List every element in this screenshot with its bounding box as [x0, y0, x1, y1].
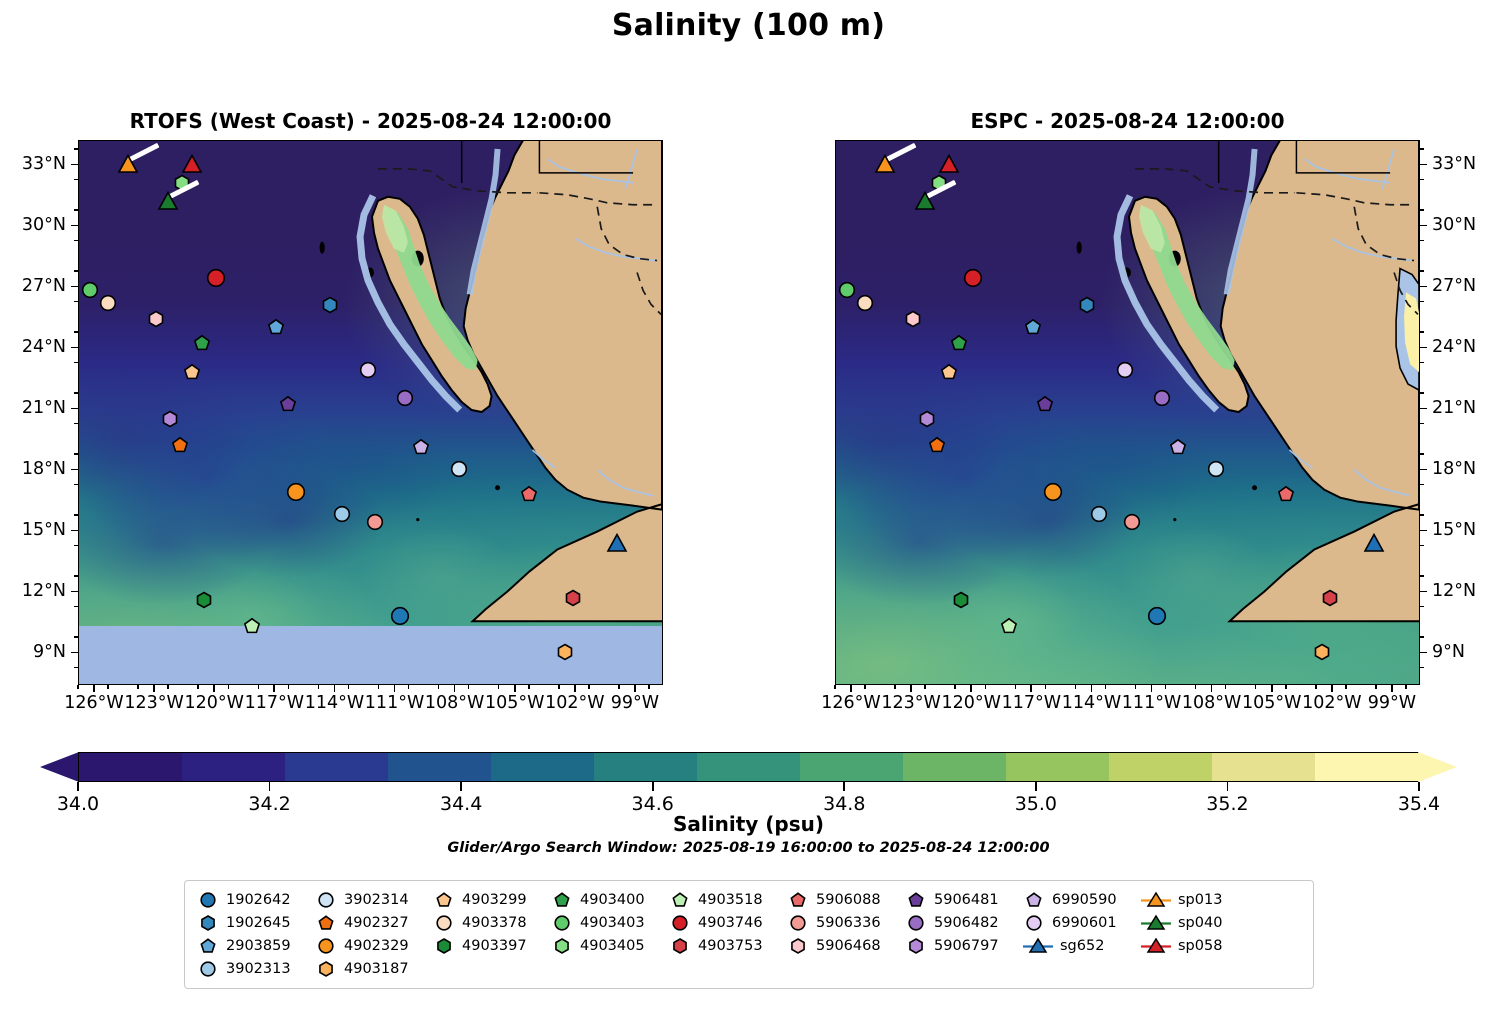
xtick-label: 102°W: [545, 693, 604, 713]
ytick-label: 9°N: [1432, 642, 1465, 662]
platform-marker-4903746[interactable]: [206, 268, 227, 289]
xtick-major: [273, 685, 275, 692]
float-marker-icon: [551, 913, 573, 932]
xtick-minor: [528, 685, 530, 689]
legend-label: 6990590: [1052, 892, 1117, 908]
xtick-major: [1030, 685, 1032, 692]
ytick-major: [1420, 530, 1427, 532]
xtick-minor: [1195, 685, 1197, 689]
xtick-minor: [618, 685, 620, 689]
platform-marker-5906088[interactable]: [1276, 484, 1295, 503]
ytick-minor: [74, 575, 78, 577]
xtick-minor: [954, 685, 956, 689]
platform-marker-4903299[interactable]: [940, 362, 959, 381]
legend-item-4903400[interactable]: 4903400: [551, 890, 669, 909]
platform-marker-6990601[interactable]: [359, 360, 378, 379]
ytick-minor: [1420, 667, 1424, 669]
platform-marker-4903378[interactable]: [99, 293, 118, 312]
xtick-label: 111°W: [365, 693, 424, 713]
xtick-major: [1271, 685, 1273, 692]
legend-column: sp013 sp040 sp058: [1141, 890, 1245, 955]
colorbar-tick: [1418, 782, 1420, 791]
xtick-minor: [77, 685, 79, 689]
platform-marker-5906481[interactable]: [279, 395, 298, 414]
xtick-major: [93, 685, 95, 692]
ytick-minor: [74, 423, 78, 425]
ytick-label: 9°N: [33, 642, 66, 662]
xtick-minor: [1345, 685, 1347, 689]
ytick-minor: [1420, 392, 1424, 394]
xtick-minor: [348, 685, 350, 689]
legend-column: 490329949033784903397: [433, 890, 551, 955]
ytick-minor: [74, 209, 78, 211]
legend-item-5906468[interactable]: 5906468: [787, 936, 905, 955]
xtick-major: [1331, 685, 1333, 692]
island-guadalupe: [1077, 242, 1082, 254]
xtick-minor: [1165, 685, 1167, 689]
xtick-major: [514, 685, 516, 692]
float-marker-icon: [197, 890, 219, 909]
xtick-minor: [1015, 685, 1017, 689]
map-panel-espc[interactable]: ESPC - 2025-08-24 12:00:00: [835, 140, 1420, 685]
platform-marker-4903299[interactable]: [183, 362, 202, 381]
legend-label: 4903403: [580, 915, 645, 931]
platform-marker-4903753[interactable]: [1320, 588, 1339, 607]
platform-marker-4903187[interactable]: [555, 643, 574, 662]
ytick-major: [71, 408, 78, 410]
glider-marker-icon: [1141, 913, 1171, 932]
xtick-major: [1391, 685, 1393, 692]
platform-marker-4902327[interactable]: [171, 436, 190, 455]
xtick-minor: [924, 685, 926, 689]
ytick-minor: [74, 301, 78, 303]
ytick-minor: [1420, 179, 1424, 181]
platform-marker-6990590[interactable]: [411, 438, 430, 457]
xtick-minor: [558, 685, 560, 689]
platform-marker-1902642[interactable]: [389, 605, 410, 626]
platform-marker-4903403[interactable]: [838, 281, 857, 300]
ytick-label: 24°N: [22, 337, 66, 357]
xtick-minor: [1375, 685, 1377, 689]
ytick-label: 27°N: [1432, 276, 1476, 296]
ytick-label: 30°N: [1432, 215, 1476, 235]
legend-label: 4903397: [462, 938, 527, 954]
ytick-minor: [74, 606, 78, 608]
legend-item-4903378[interactable]: 4903378: [433, 913, 551, 932]
platform-marker-sp013[interactable]: [874, 153, 896, 175]
glider-marker-icon: [1023, 936, 1053, 955]
ytick-major: [71, 347, 78, 349]
colorbar-extend-high: [1418, 752, 1457, 782]
legend-item-5906797[interactable]: 5906797: [905, 936, 1023, 955]
legend-label: 4902329: [344, 938, 409, 954]
xtick-major: [454, 685, 456, 692]
platform-marker-4903397[interactable]: [952, 590, 971, 609]
ytick-minor: [74, 148, 78, 150]
float-marker-icon: [433, 936, 455, 955]
xtick-label: 126°W: [821, 693, 880, 713]
platform-legend[interactable]: 1902642190264529038593902313390231449023…: [184, 880, 1314, 989]
legend-label: 5906481: [934, 892, 999, 908]
ytick-minor: [74, 667, 78, 669]
xtick-minor: [318, 685, 320, 689]
platform-marker-5906797[interactable]: [161, 409, 180, 428]
legend-item-5906088[interactable]: 5906088: [787, 890, 905, 909]
xtick-minor: [1315, 685, 1317, 689]
platform-marker-5906482[interactable]: [1152, 389, 1171, 408]
legend-item-sp058[interactable]: sp058: [1141, 936, 1245, 955]
legend-item-4903753[interactable]: 4903753: [669, 936, 787, 955]
platform-marker-4903753[interactable]: [563, 588, 582, 607]
platform-marker-4903187[interactable]: [1312, 643, 1331, 662]
xtick-minor: [1225, 685, 1227, 689]
legend-label: 1902645: [226, 915, 291, 931]
xtick-minor: [1255, 685, 1257, 689]
legend-label: sg652: [1060, 938, 1104, 954]
legend-item-sp040[interactable]: sp040: [1141, 913, 1245, 932]
ytick-label: 33°N: [22, 154, 66, 174]
xtick-label: 123°W: [881, 693, 940, 713]
float-marker-icon: [315, 890, 337, 909]
xtick-minor: [1045, 685, 1047, 689]
ytick-label: 33°N: [1432, 154, 1476, 174]
legend-label: 4903753: [698, 938, 763, 954]
ytick-major: [71, 591, 78, 593]
platform-marker-4902327[interactable]: [928, 436, 947, 455]
xtick-major: [970, 685, 972, 692]
ytick-label: 18°N: [1432, 459, 1476, 479]
platform-marker-4903400[interactable]: [193, 334, 212, 353]
xtick-major: [850, 685, 852, 692]
legend-label: 4903405: [580, 938, 645, 954]
legend-item-4903746[interactable]: 4903746: [669, 913, 787, 932]
xtick-label: 117°W: [1002, 693, 1061, 713]
ytick-label: 15°N: [1432, 520, 1476, 540]
legend-item-5906481[interactable]: 5906481: [905, 890, 1023, 909]
legend-label: 3902313: [226, 961, 291, 977]
xtick-major: [1211, 685, 1213, 692]
legend-item-6990601[interactable]: 6990601: [1023, 913, 1141, 932]
legend-item-5906482[interactable]: 5906482: [905, 913, 1023, 932]
legend-item-4903187[interactable]: 4903187: [315, 959, 433, 978]
ytick-label: 15°N: [22, 520, 66, 540]
ytick-minor: [1420, 606, 1424, 608]
island-socorro: [416, 518, 419, 521]
float-marker-icon: [669, 890, 691, 909]
colorbar-tick: [77, 782, 79, 791]
legend-label: 4903518: [698, 892, 763, 908]
legend-label: 5906336: [816, 915, 881, 931]
platform-marker-6990590[interactable]: [1168, 438, 1187, 457]
xtick-minor: [864, 685, 866, 689]
float-marker-icon: [787, 936, 809, 955]
float-marker-icon: [551, 890, 573, 909]
ytick-major: [1420, 408, 1427, 410]
platform-marker-4903403[interactable]: [81, 281, 100, 300]
platform-marker-3902314[interactable]: [449, 460, 468, 479]
platform-marker-4903378[interactable]: [856, 293, 875, 312]
legend-column: 490351849037464903753: [669, 890, 787, 955]
ytick-major: [71, 225, 78, 227]
legend-item-4902329[interactable]: 4902329: [315, 936, 433, 955]
xtick-major: [634, 685, 636, 692]
xtick-minor: [1285, 685, 1287, 689]
colorbar-extend-low: [40, 752, 79, 782]
float-marker-icon: [315, 959, 337, 978]
ytick-minor: [74, 179, 78, 181]
float-marker-icon: [1023, 890, 1045, 909]
ytick-label: 30°N: [22, 215, 66, 235]
ytick-minor: [1420, 301, 1424, 303]
ytick-minor: [1420, 240, 1424, 242]
platform-marker-2903859[interactable]: [267, 318, 286, 337]
glider-marker-icon: [1141, 890, 1171, 909]
platform-marker-4903400[interactable]: [950, 334, 969, 353]
map-panel-rtofs[interactable]: RTOFS (West Coast) - 2025-08-24 12:00:00: [78, 140, 663, 685]
colorbar-tick: [269, 782, 271, 791]
platform-marker-3902313[interactable]: [333, 505, 352, 524]
legend-item-1902645[interactable]: 1902645: [197, 913, 315, 932]
legend-item-6990590[interactable]: 6990590: [1023, 890, 1141, 909]
ytick-minor: [1420, 209, 1424, 211]
xtick-minor: [498, 685, 500, 689]
ytick-minor: [74, 270, 78, 272]
platform-marker-sp058[interactable]: [938, 153, 960, 175]
ytick-minor: [74, 484, 78, 486]
ytick-major: [1420, 469, 1427, 471]
platform-marker-5906797[interactable]: [918, 409, 937, 428]
float-marker-icon: [905, 936, 927, 955]
legend-item-4903299[interactable]: 4903299: [433, 890, 551, 909]
search-window-caption: Glider/Argo Search Window: 2025-08-19 16…: [0, 840, 1497, 856]
xtick-minor: [894, 685, 896, 689]
xtick-major: [153, 685, 155, 692]
colorbar-tick: [843, 782, 845, 791]
xtick-minor: [107, 685, 109, 689]
island-marias: [1252, 485, 1257, 490]
ytick-minor: [1420, 514, 1424, 516]
platform-marker-3902313[interactable]: [1090, 505, 1109, 524]
platform-marker-4903397[interactable]: [195, 590, 214, 609]
ytick-major: [71, 164, 78, 166]
xtick-label: 108°W: [1182, 693, 1241, 713]
xtick-minor: [378, 685, 380, 689]
xtick-minor: [1075, 685, 1077, 689]
platform-marker-5906468[interactable]: [904, 309, 923, 328]
island-marias: [495, 485, 500, 490]
xtick-minor: [137, 685, 139, 689]
legend-item-2903859[interactable]: 2903859: [197, 936, 315, 955]
platform-marker-4902329[interactable]: [286, 481, 307, 502]
legend-item-4903403[interactable]: 4903403: [551, 913, 669, 932]
xtick-minor: [1105, 685, 1107, 689]
xtick-major: [334, 685, 336, 692]
legend-label: 5906468: [816, 938, 881, 954]
ytick-minor: [1420, 331, 1424, 333]
legend-column: 69905906990601 sg652: [1023, 890, 1141, 955]
legend-item-5906336[interactable]: 5906336: [787, 913, 905, 932]
legend-label: 1902642: [226, 892, 291, 908]
xtick-label: 99°W: [611, 693, 659, 713]
colorbar-tick: [652, 782, 654, 791]
xtick-minor: [408, 685, 410, 689]
platform-marker-4903518[interactable]: [243, 617, 262, 636]
legend-label: 4903378: [462, 915, 527, 931]
platform-marker-1902645[interactable]: [321, 295, 340, 314]
xtick-major: [1151, 685, 1153, 692]
platform-marker-5906336[interactable]: [1122, 513, 1141, 532]
platform-marker-5906482[interactable]: [395, 389, 414, 408]
platform-marker-5906468[interactable]: [147, 309, 166, 328]
platform-marker-4903746[interactable]: [963, 268, 984, 289]
xtick-major: [910, 685, 912, 692]
legend-item-4902327[interactable]: 4902327: [315, 913, 433, 932]
platform-marker-sp040[interactable]: [157, 190, 179, 212]
ytick-minor: [1420, 545, 1424, 547]
legend-label: 4903746: [698, 915, 763, 931]
legend-label: sp013: [1178, 892, 1222, 908]
ytick-label: 27°N: [22, 276, 66, 296]
xtick-label: 120°W: [184, 693, 243, 713]
figure-root: Salinity (100 m) RTOFS (West Coast) - 20…: [0, 0, 1497, 1014]
ytick-minor: [1420, 148, 1424, 150]
legend-item-4903397[interactable]: 4903397: [433, 936, 551, 955]
ytick-minor: [74, 453, 78, 455]
platform-marker-5906336[interactable]: [365, 513, 384, 532]
legend-column: 3902314490232749023294903187: [315, 890, 433, 978]
legend-label: 4903187: [344, 961, 409, 977]
platform-marker-5906088[interactable]: [519, 484, 538, 503]
colorbar-tick: [1227, 782, 1229, 791]
platform-marker-sp040[interactable]: [914, 190, 936, 212]
ytick-label: 18°N: [22, 459, 66, 479]
legend-column: 490340049034034903405: [551, 890, 669, 955]
legend-item-sg652[interactable]: sg652: [1023, 936, 1141, 955]
xtick-label: 120°W: [941, 693, 1000, 713]
ytick-minor: [74, 392, 78, 394]
ytick-label: 12°N: [1432, 581, 1476, 601]
xtick-minor: [588, 685, 590, 689]
float-marker-icon: [787, 890, 809, 909]
landmass-mainland: [1221, 141, 1419, 621]
panel-title-espc: ESPC - 2025-08-24 12:00:00: [835, 109, 1420, 140]
platform-marker-sp058[interactable]: [181, 153, 203, 175]
float-marker-icon: [197, 959, 219, 978]
ytick-label: 21°N: [22, 398, 66, 418]
xtick-label: 105°W: [485, 693, 544, 713]
xtick-minor: [1135, 685, 1137, 689]
xtick-label: 102°W: [1302, 693, 1361, 713]
platform-marker-sg652[interactable]: [606, 532, 628, 554]
platform-marker-1902642[interactable]: [1146, 605, 1167, 626]
float-marker-icon: [315, 936, 337, 955]
platform-marker-sg652[interactable]: [1363, 532, 1385, 554]
xtick-minor: [197, 685, 199, 689]
ytick-minor: [1420, 270, 1424, 272]
ytick-minor: [74, 545, 78, 547]
ytick-major: [1420, 225, 1427, 227]
xtick-minor: [258, 685, 260, 689]
platform-marker-2903859[interactable]: [1024, 318, 1043, 337]
legend-label: 5906088: [816, 892, 881, 908]
ytick-minor: [74, 362, 78, 364]
legend-column: 1902642190264529038593902313: [197, 890, 315, 978]
legend-label: 4902327: [344, 915, 409, 931]
platform-marker-4903518[interactable]: [1000, 617, 1019, 636]
landmass-mainland: [464, 141, 662, 621]
legend-item-3902313[interactable]: 3902313: [197, 959, 315, 978]
legend-label: 5906482: [934, 915, 999, 931]
legend-item-4903405[interactable]: 4903405: [551, 936, 669, 955]
float-marker-icon: [197, 913, 219, 932]
float-marker-icon: [669, 913, 691, 932]
xtick-major: [1091, 685, 1093, 692]
xtick-minor: [438, 685, 440, 689]
xtick-label: 111°W: [1122, 693, 1181, 713]
xtick-minor: [648, 685, 650, 689]
ytick-minor: [1420, 484, 1424, 486]
platform-marker-5906481[interactable]: [1036, 395, 1055, 414]
platform-marker-6990601[interactable]: [1116, 360, 1135, 379]
float-marker-icon: [551, 936, 573, 955]
xtick-minor: [985, 685, 987, 689]
ytick-minor: [74, 331, 78, 333]
platform-marker-sp013[interactable]: [117, 153, 139, 175]
glider-marker-icon: [1141, 936, 1171, 955]
ytick-label: 21°N: [1432, 398, 1476, 418]
xtick-label: 114°W: [1062, 693, 1121, 713]
island-socorro: [1173, 518, 1176, 521]
platform-marker-4902329[interactable]: [1043, 481, 1064, 502]
island-guadalupe: [320, 242, 325, 254]
legend-label: 2903859: [226, 938, 291, 954]
ytick-major: [1420, 286, 1427, 288]
ytick-minor: [1420, 636, 1424, 638]
platform-marker-3902314[interactable]: [1206, 460, 1225, 479]
xtick-major: [394, 685, 396, 692]
xtick-label: 105°W: [1242, 693, 1301, 713]
legend-item-4903518[interactable]: 4903518: [669, 890, 787, 909]
ytick-major: [71, 469, 78, 471]
legend-label: sp040: [1178, 915, 1222, 931]
ytick-major: [1420, 347, 1427, 349]
xtick-minor: [834, 685, 836, 689]
ytick-minor: [1420, 423, 1424, 425]
legend-item-1902642[interactable]: 1902642: [197, 890, 315, 909]
legend-item-sp013[interactable]: sp013: [1141, 890, 1245, 909]
xtick-minor: [288, 685, 290, 689]
xtick-label: 123°W: [124, 693, 183, 713]
float-marker-icon: [197, 936, 219, 955]
legend-item-3902314[interactable]: 3902314: [315, 890, 433, 909]
platform-marker-1902645[interactable]: [1078, 295, 1097, 314]
xtick-major: [213, 685, 215, 692]
xtick-major: [574, 685, 576, 692]
xtick-minor: [228, 685, 230, 689]
no-data-band: [79, 626, 662, 684]
float-marker-icon: [905, 890, 927, 909]
ytick-label: 24°N: [1432, 337, 1476, 357]
xtick-label: 117°W: [245, 693, 304, 713]
ytick-major: [1420, 652, 1427, 654]
colorbar-group[interactable]: 34.034.234.434.634.835.035.235.4: [40, 752, 1457, 782]
ytick-major: [1420, 591, 1427, 593]
page-title: Salinity (100 m): [0, 8, 1497, 43]
colorbar[interactable]: [78, 752, 1419, 782]
ytick-minor: [1420, 575, 1424, 577]
ytick-minor: [74, 514, 78, 516]
ytick-major: [71, 652, 78, 654]
